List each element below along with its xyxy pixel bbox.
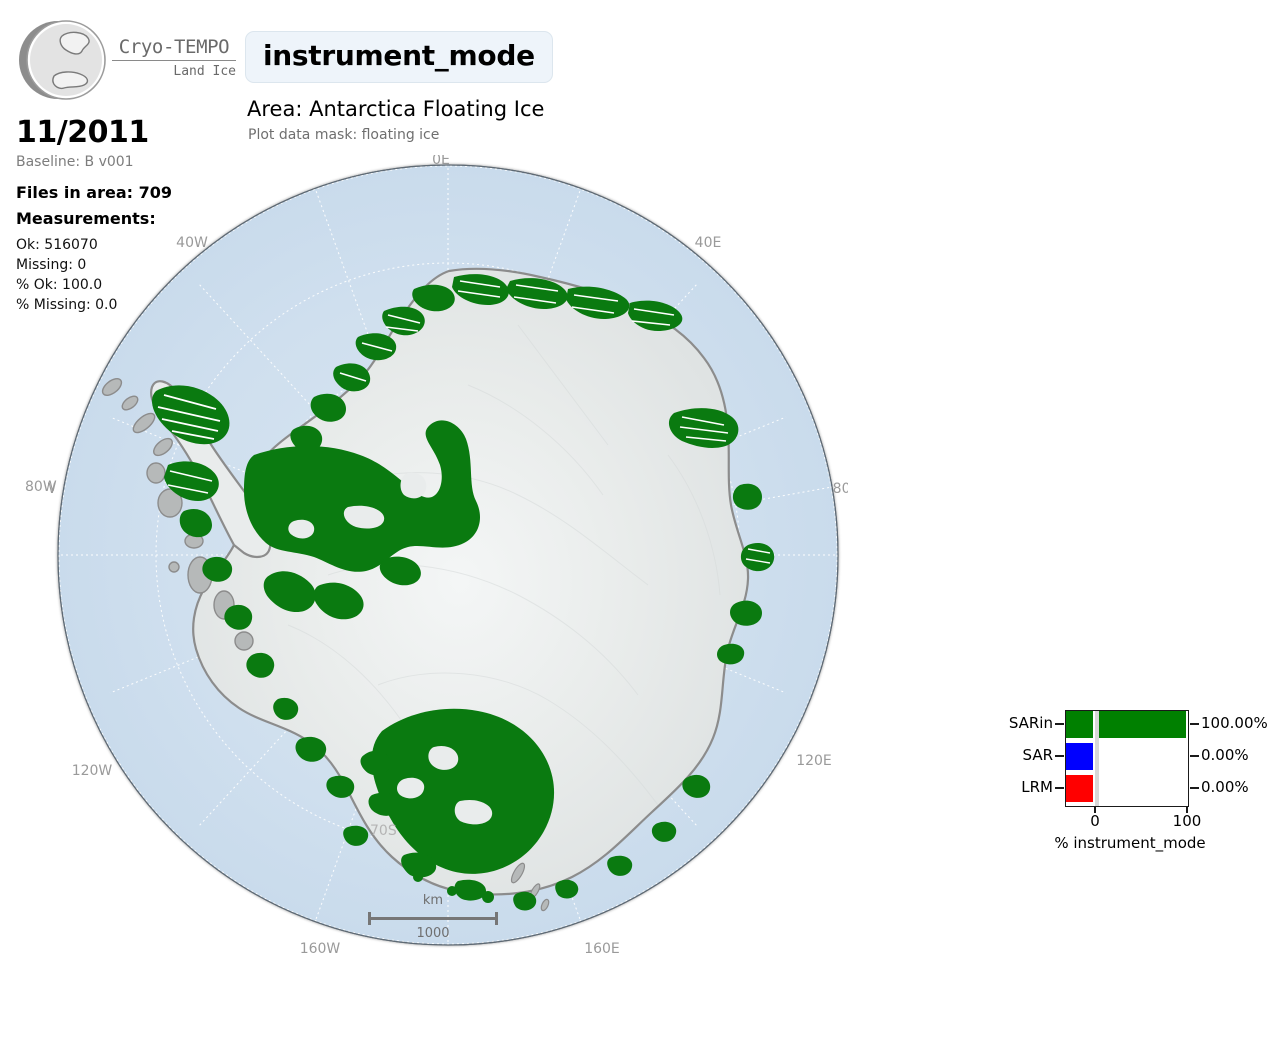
instrument-mode-bar-chart: SARin 100.00% SAR 0.00% LRM 0.00% — [1005, 702, 1260, 852]
chart-plot-area: SARin 100.00% SAR 0.00% LRM 0.00% — [1065, 710, 1189, 807]
scalebar-cap-right — [495, 912, 498, 925]
chart-category-label: SAR — [983, 746, 1053, 764]
lon-label-40e: 40E — [695, 235, 722, 251]
scalebar-cap-left — [368, 912, 371, 925]
chart-row-sar: SAR 0.00% — [1066, 743, 1188, 770]
chart-value-label: 100.00% — [1201, 714, 1268, 732]
logo-subtitle: Land Ice — [112, 64, 236, 80]
plot-mask-subtitle: Plot data mask: floating ice — [248, 126, 439, 145]
scalebar-unit: km — [368, 893, 498, 909]
chart-bar-sarin — [1099, 711, 1186, 738]
month-year-label: 11/2011 — [16, 116, 231, 150]
lon-label-80e: 80E — [833, 481, 848, 497]
chart-ytick-right — [1190, 755, 1199, 757]
logo-title: Cryo-TEMPO — [112, 36, 236, 58]
lon-label-160e: 160E — [584, 941, 620, 955]
chart-xticklabel-0: 0 — [1070, 812, 1120, 830]
chart-ytick — [1055, 723, 1064, 725]
lon-label-0e: 0E — [432, 155, 450, 168]
logo-divider — [112, 60, 236, 61]
lon-label-160w: 160W — [300, 941, 341, 955]
chart-ytick-right — [1190, 723, 1199, 725]
variable-title-chip: instrument_mode — [245, 31, 553, 83]
chart-xaxis-title: % instrument_mode — [1040, 834, 1220, 852]
scalebar-line — [368, 911, 498, 925]
legend-swatch-sarin — [1066, 711, 1093, 738]
lat-label-70s: 70S — [370, 823, 397, 839]
brand-logo: Cryo-TEMPO Land Ice — [18, 14, 238, 106]
globe-icon — [18, 16, 106, 104]
lon-label-120w: 120W — [72, 763, 113, 779]
map-scalebar: km 1000 — [368, 893, 498, 942]
legend-swatch-lrm — [1066, 775, 1093, 802]
chart-row-sarin: SARin 100.00% — [1066, 711, 1188, 738]
polar-map: 70S 0E 40E 80E 120E 160E 160W 120W 80W 4… — [48, 155, 848, 955]
chart-ytick — [1055, 755, 1064, 757]
chart-value-label: 0.00% — [1201, 778, 1249, 796]
chart-ytick — [1055, 787, 1064, 789]
scalebar-bar — [368, 917, 498, 920]
lon-label-40w: 40W — [176, 235, 208, 251]
chart-category-label: LRM — [983, 778, 1053, 796]
legend-swatch-sar — [1066, 743, 1093, 770]
chart-xticklabel-100: 100 — [1162, 812, 1212, 830]
chart-category-label: SARin — [983, 714, 1053, 732]
chart-value-label: 0.00% — [1201, 746, 1249, 764]
lon-label-120e: 120E — [796, 753, 832, 769]
scalebar-value: 1000 — [368, 926, 498, 942]
chart-row-lrm: LRM 0.00% — [1066, 775, 1188, 802]
chart-ytick-right — [1190, 787, 1199, 789]
lon-label-80w-text: 80W — [25, 479, 57, 495]
area-title: Area: Antarctica Floating Ice — [247, 96, 544, 123]
